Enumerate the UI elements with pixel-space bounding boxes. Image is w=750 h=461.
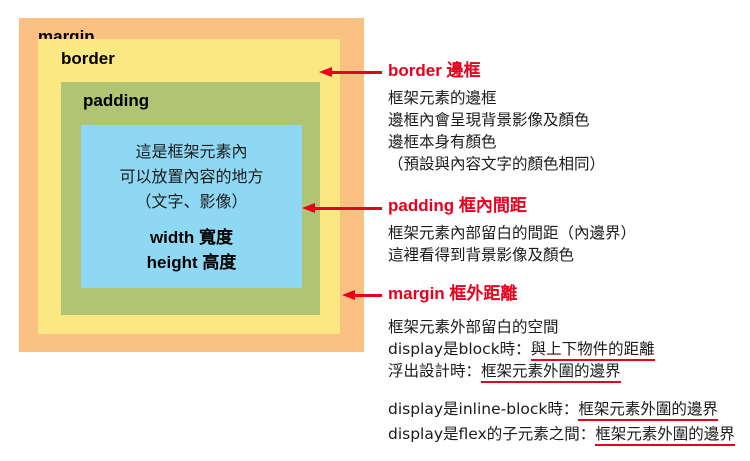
annotation-display-modes: display是inline-block時：框架元素外圍的邊界 display是… bbox=[388, 397, 735, 447]
annotation-padding-body: 框架元素內部留白的間距（內邊界） 這裡看得到背景影像及顏色 bbox=[388, 222, 636, 266]
padding-layer-box: padding 這是框架元素內 可以放置內容的地方 （文字、影像） width … bbox=[61, 82, 320, 315]
annotation-line-prefix: 浮出設計時： bbox=[388, 362, 481, 380]
annotation-line-emphasis: 與上下物件的距離 bbox=[531, 340, 655, 361]
annotation-line: （預設與內容文字的顏色相同） bbox=[388, 153, 605, 175]
arrow-shaft bbox=[313, 207, 382, 210]
box-model-diagram-canvas: margin border padding 這是框架元素內 可以放置內容的地方 … bbox=[0, 0, 750, 461]
annotation-margin-heading: margin 框外距離 bbox=[388, 284, 655, 304]
content-dimension-text: width 寬度 height 高度 bbox=[81, 225, 302, 275]
annotation-line: display是flex的子元素之間：框架元素外圍的邊界 bbox=[388, 422, 735, 447]
annotation-line: 邊框內會呈現背景影像及顏色 bbox=[388, 109, 605, 131]
annotation-line: 框架元素外部留白的空間 bbox=[388, 316, 655, 338]
annotation-line-emphasis: 框架元素外圍的邊界 bbox=[595, 425, 735, 446]
content-line: 這是框架元素內 bbox=[81, 139, 302, 164]
annotation-line: display是inline-block時：框架元素外圍的邊界 bbox=[388, 397, 735, 422]
annotation-border-body: 框架元素的邊框 邊框內會呈現背景影像及顏色 邊框本身有顏色 （預設與內容文字的顏… bbox=[388, 87, 605, 175]
annotation-margin-body: 框架元素外部留白的空間 display是block時：與上下物件的距離 浮出設計… bbox=[388, 316, 655, 382]
annotation-margin: margin 框外距離 框架元素外部留白的空間 display是block時：與… bbox=[388, 284, 655, 382]
annotation-border: border 邊框 框架元素的邊框 邊框內會呈現背景影像及顏色 邊框本身有顏色 … bbox=[388, 61, 605, 175]
content-layer-box: 這是框架元素內 可以放置內容的地方 （文字、影像） width 寬度 heigh… bbox=[81, 125, 302, 288]
border-layer-box: border padding 這是框架元素內 可以放置內容的地方 （文字、影像）… bbox=[38, 39, 340, 334]
content-line: （文字、影像） bbox=[81, 189, 302, 214]
border-callout-arrow-icon bbox=[319, 67, 382, 78]
arrow-shaft bbox=[353, 294, 382, 297]
annotation-line: 框架元素內部留白的間距（內邊界） bbox=[388, 222, 636, 244]
padding-callout-arrow-icon bbox=[302, 203, 382, 214]
annotation-line-emphasis: 框架元素外圍的邊界 bbox=[481, 362, 621, 383]
annotation-border-heading: border 邊框 bbox=[388, 61, 605, 81]
annotation-line-emphasis: 框架元素外圍的邊界 bbox=[578, 400, 718, 421]
width-label: width 寬度 bbox=[81, 225, 302, 250]
annotation-line: 框架元素的邊框 bbox=[388, 87, 605, 109]
content-line: 可以放置內容的地方 bbox=[81, 164, 302, 189]
annotation-line: 浮出設計時：框架元素外圍的邊界 bbox=[388, 360, 655, 382]
padding-layer-label: padding bbox=[83, 91, 149, 111]
content-description-text: 這是框架元素內 可以放置內容的地方 （文字、影像） bbox=[81, 139, 302, 214]
border-layer-label: border bbox=[61, 49, 115, 69]
annotation-line-prefix: display是inline-block時： bbox=[388, 400, 578, 418]
margin-callout-arrow-icon bbox=[342, 290, 382, 301]
margin-layer-box: margin border padding 這是框架元素內 可以放置內容的地方 … bbox=[19, 18, 364, 352]
arrow-shaft bbox=[330, 71, 382, 74]
annotation-line: 這裡看得到背景影像及顏色 bbox=[388, 244, 636, 266]
annotation-line-prefix: display是flex的子元素之間： bbox=[388, 425, 595, 443]
annotation-padding: padding 框內間距 框架元素內部留白的間距（內邊界） 這裡看得到背景影像及… bbox=[388, 196, 636, 266]
annotation-line: display是block時：與上下物件的距離 bbox=[388, 338, 655, 360]
annotation-line: 邊框本身有顏色 bbox=[388, 131, 605, 153]
annotation-padding-heading: padding 框內間距 bbox=[388, 196, 636, 216]
annotation-line-prefix: display是block時： bbox=[388, 340, 531, 358]
height-label: height 高度 bbox=[81, 250, 302, 275]
